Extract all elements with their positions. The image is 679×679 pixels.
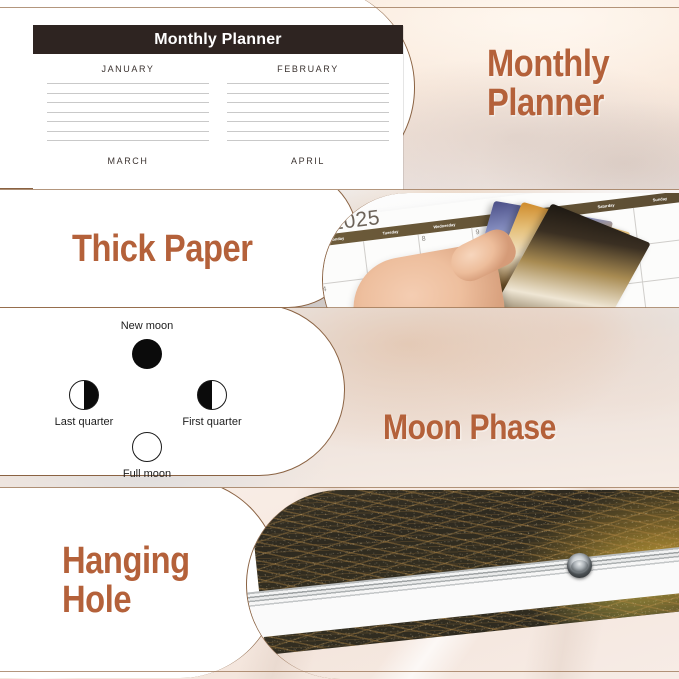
headline-line-1: Monthly — [487, 45, 609, 84]
monthly-planner-sheet: Monthly Planner JANUARY FEBRUARY MARCH A… — [33, 25, 403, 197]
headline-line-2: Hole — [62, 581, 190, 620]
planner-month-column: MARCH — [47, 156, 209, 175]
moon-phase-label: Full moon — [110, 468, 184, 480]
moon-phase-full-moon: Full moon — [110, 432, 184, 480]
month-label-february: FEBRUARY — [227, 64, 389, 74]
day-number: 14 — [322, 286, 327, 294]
planner-title: Monthly Planner — [154, 31, 281, 49]
planner-month-column: FEBRUARY — [227, 64, 389, 150]
month-label-april: APRIL — [227, 156, 389, 166]
headline-line-1: Hanging — [62, 542, 190, 581]
moon-phase-first-quarter: First quarter — [168, 380, 256, 428]
hanging-hole-photo-clip — [246, 490, 679, 679]
divider-moon-hanging — [0, 487, 679, 488]
moon-phase-diagram: New moon Last quarter First quarter Full… — [0, 308, 340, 488]
headline-hanging-hole: Hanging Hole — [62, 542, 190, 620]
moon-last-quarter-icon — [69, 380, 99, 410]
month-label-march: MARCH — [47, 156, 209, 166]
moon-phase-label: New moon — [110, 320, 184, 332]
month-write-lines — [47, 83, 209, 141]
moon-phase-last-quarter: Last quarter — [40, 380, 128, 428]
moon-full-icon — [132, 432, 162, 462]
headline-monthly-planner: Monthly Planner — [487, 45, 609, 123]
month-label-january: JANUARY — [47, 64, 209, 74]
moon-phase-label: Last quarter — [40, 416, 128, 428]
divider-bottom — [0, 671, 679, 672]
planner-month-row-top: JANUARY FEBRUARY — [33, 54, 403, 150]
planner-month-column: JANUARY — [47, 64, 209, 150]
month-write-lines — [227, 83, 389, 141]
planner-month-row-bottom: MARCH APRIL — [33, 150, 403, 175]
moon-first-quarter-icon — [197, 380, 227, 410]
moon-new-icon — [132, 339, 162, 369]
headline-thick-paper: Thick Paper — [72, 230, 253, 269]
planner-month-column: APRIL — [227, 156, 389, 175]
divider-planner-thickpaper — [0, 189, 679, 190]
product-feature-infographic: Monthly Planner JANUARY FEBRUARY MARCH A… — [0, 0, 679, 679]
headline-moon-phase: Moon Phase — [383, 410, 556, 446]
photo-hanging-hole-closeup — [246, 490, 679, 679]
moon-phase-label: First quarter — [168, 416, 256, 428]
divider-thickpaper-moon — [0, 307, 679, 308]
divider-top — [0, 7, 679, 8]
headline-line-2: Planner — [487, 84, 609, 123]
planner-titlebar: Monthly Planner — [33, 25, 403, 54]
moon-phase-new-moon: New moon — [110, 320, 184, 369]
